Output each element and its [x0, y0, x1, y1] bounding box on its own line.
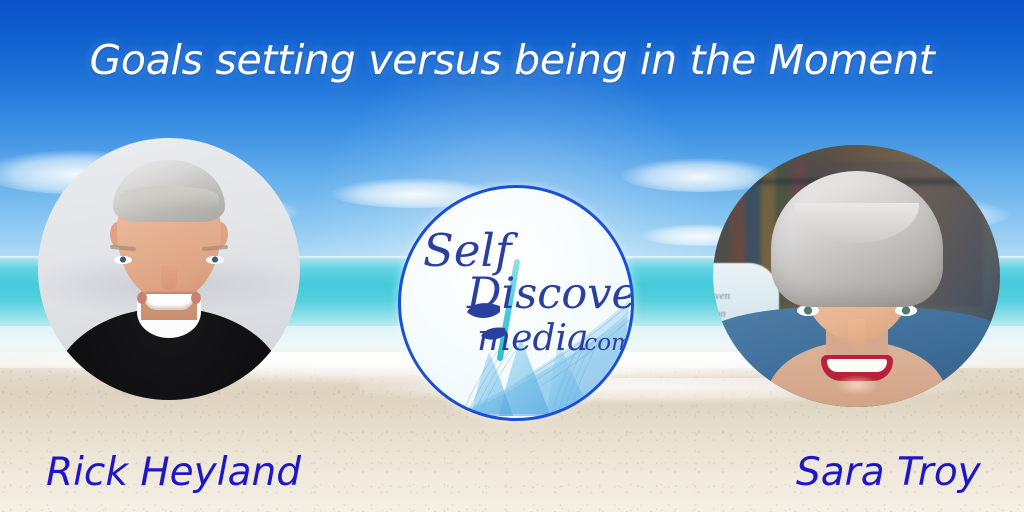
nose [161, 266, 177, 290]
eye-left [206, 256, 224, 264]
avatar-guest-right: ven on [713, 145, 1000, 407]
logo-text-dotcom: .com [577, 330, 633, 356]
poster-line-1: ven [715, 290, 730, 302]
page-title: Goals setting versus being in the Moment [0, 36, 1024, 84]
guest-name-right: Sara Troy [796, 450, 981, 495]
sweater-emblem-icon: ∧ [190, 396, 202, 400]
podcast-episode-banner: Goals setting versus being in the Moment… [0, 0, 1024, 512]
logo-text-media: media [477, 318, 588, 359]
guest-name-left: Rick Heyland [46, 450, 301, 495]
logo-text-discovery: Discovery [467, 269, 634, 319]
poster-line-2: on [715, 308, 726, 320]
brand-logo[interactable]: Self Discovery media .com [398, 185, 634, 421]
chin-highlight [835, 375, 879, 395]
eye-right [114, 256, 132, 264]
avatar-guest-left: ∧ [38, 138, 300, 400]
nose [848, 319, 866, 347]
smile [144, 294, 194, 310]
